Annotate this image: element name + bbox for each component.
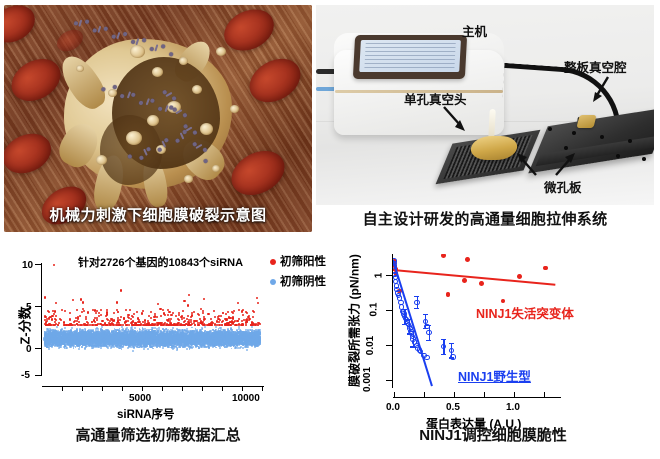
arrow-to-vacuum-chamber [588,75,614,103]
sirna-screen-chart: 针对2726个基因的10843个siRNA Z-分数 10 5 0 -5 500… [4,244,312,412]
membrane-vesicle [212,165,220,172]
sirna-point-negative [58,347,60,349]
touchscreen-bezel [353,35,467,79]
membrane-vesicle [96,155,107,165]
sirna-point-negative [162,347,164,349]
illustration-panel: 机械力刺激下细胞膜破裂示意图 [4,5,312,232]
photo-label-host: 主机 [462,21,487,40]
chamber-screw [616,154,620,158]
sirna-point-negative [134,327,136,329]
sirna-point-negative [128,346,130,348]
sirna-point-negative [242,347,244,349]
device-photo-caption: 自主设计研发的高通量细胞拉伸系统 [316,208,654,229]
chamber-screw [548,127,552,131]
chamber-screw [642,157,646,161]
membrane-vesicle [108,89,117,97]
photo-label-microplate: 微孔板 [544,177,582,196]
sirna-plot-area [42,263,264,376]
touchscreen-display [359,40,461,72]
sirna-y-tickmark [35,375,42,376]
brass-vacuum-port [576,115,596,128]
sirna-point-negative [143,348,145,350]
membrane-vesicle [200,123,213,135]
sirna-point-negative [60,346,62,348]
chamber-screw [564,146,568,150]
membrane-vesicle [126,131,142,145]
membrane-vesicle [230,105,239,113]
sirna-y-tickmark [35,348,42,349]
sirna-y-tick: -5 [21,370,30,381]
device-photo-panel: 主机 整板真空腔 单孔真空头 微孔板 [316,5,654,205]
membrane-vesicle [76,65,84,72]
sirna-point-negative [78,348,80,350]
arrow-to-vacuum-head [442,105,470,133]
membrane-vesicle [179,57,188,65]
membrane-vesicle [130,45,145,58]
sirna-y-tick: 10 [22,260,33,271]
screen-content [364,43,455,69]
chamber-screw [572,131,576,135]
sirna-point-negative [71,327,73,329]
membrane-vesicle [147,115,159,126]
membrane-vesicle [192,85,202,94]
sirna-y-tick: 0 [26,344,32,355]
membrane-vesicle [152,67,163,77]
chamber-screw [600,135,604,139]
sirna-y-tickmark [35,264,42,265]
arrow-to-microplate-right [552,151,578,177]
membrane-vesicle [216,47,226,56]
blue-cable [316,87,336,91]
chamber-screw [628,139,632,143]
sirna-y-tickmark [35,306,42,307]
sirna-point-negative [56,326,58,328]
arrow-to-microplate-left [514,151,540,177]
illustration-caption: 机械力刺激下细胞膜破裂示意图 [4,204,312,225]
sirna-y-tick: 5 [26,302,32,313]
photo-label-full-plate-vacuum-chamber: 整板真空腔 [564,57,627,76]
membrane-vesicle [184,175,193,183]
